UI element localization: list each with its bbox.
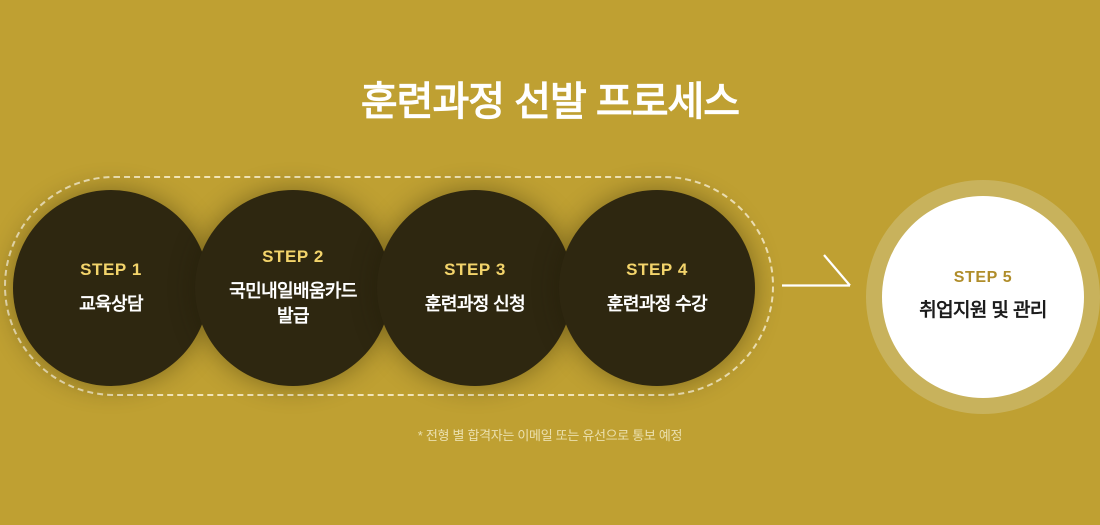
arrow-right-icon (782, 252, 856, 294)
step-text-4: 훈련과정 수강 (599, 292, 715, 317)
step-item-4[interactable]: STEP 4 훈련과정 수강 (559, 190, 755, 386)
step-label-1: STEP 1 (80, 260, 142, 280)
step-item-5[interactable]: STEP 5 취업지원 및 관리 (882, 196, 1084, 398)
step-item-3[interactable]: STEP 3 훈련과정 신청 (377, 190, 573, 386)
step-text-1: 교육상담 (71, 292, 151, 317)
page-title: 훈련과정 선발 프로세스 (0, 78, 1100, 126)
step-label-3: STEP 3 (444, 260, 506, 280)
footnote-note: * 전형 별 합격자는 이메일 또는 유선으로 통보 예정 (0, 425, 1100, 444)
step-item-5-ring: STEP 5 취업지원 및 관리 (866, 180, 1100, 414)
step-label-4: STEP 4 (626, 260, 688, 280)
step-label-2: STEP 2 (262, 247, 324, 267)
step-text-5: 취업지원 및 관리 (911, 298, 1055, 324)
step-item-2[interactable]: STEP 2 국민내일배움카드발급 (195, 190, 391, 386)
process-diagram: 훈련과정 선발 프로세스 STEP 1 교육상담 STEP 2 국민내일배움카드… (0, 0, 1100, 525)
step-item-1[interactable]: STEP 1 교육상담 (13, 190, 209, 386)
step-text-3: 훈련과정 신청 (417, 292, 533, 317)
step-text-2: 국민내일배움카드발급 (221, 279, 365, 329)
step-label-5: STEP 5 (954, 269, 1012, 287)
